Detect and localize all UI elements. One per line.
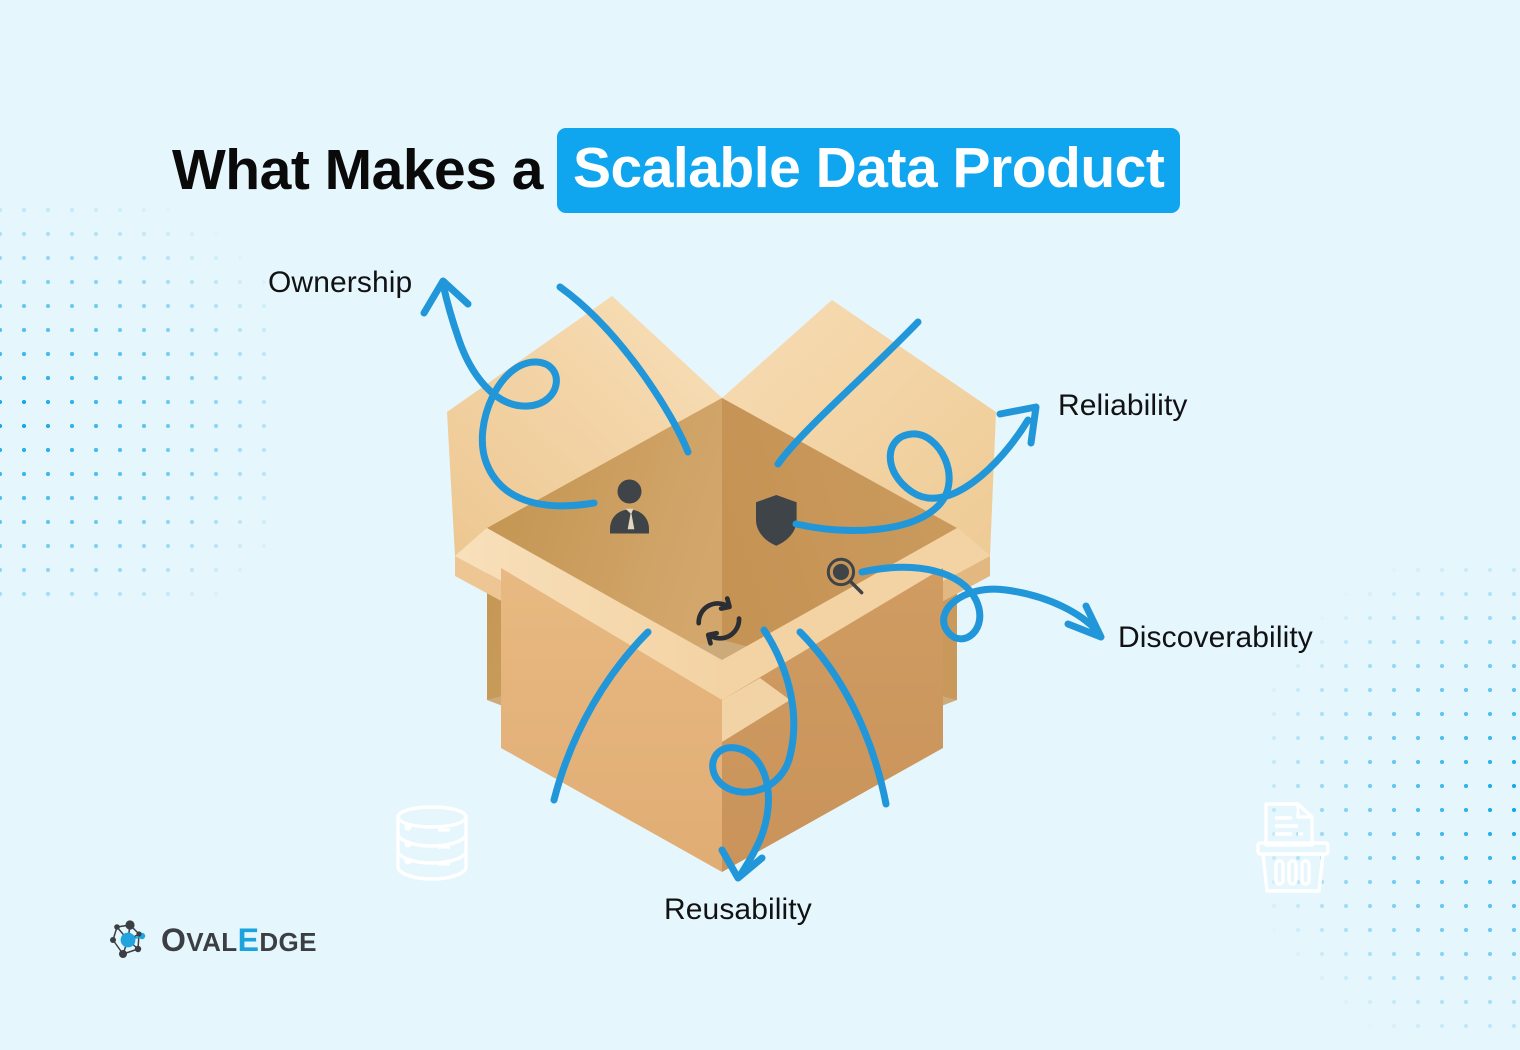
- callout-label-ownership: Ownership: [268, 266, 412, 300]
- callout-label-discoverability: Discoverability: [1118, 621, 1313, 655]
- logo-letters-dge: DGE: [259, 927, 317, 957]
- page-title: What Makes aScalable Data Product: [172, 128, 1180, 213]
- callout-label-reusability: Reusability: [664, 893, 812, 927]
- oval-edge-logo[interactable]: OVALEDGE: [104, 916, 317, 964]
- trash-document-icon: [1258, 804, 1328, 891]
- page-title-plain: What Makes a: [172, 142, 557, 199]
- logo-letter-o: O: [161, 922, 186, 958]
- infographic-canvas: What Makes aScalable Data Product Owners…: [0, 0, 1520, 1050]
- oval-edge-wordmark: OVALEDGE: [161, 924, 317, 956]
- page-title-highlight: Scalable Data Product: [557, 128, 1180, 213]
- database-icon: [398, 807, 466, 879]
- logo-letters-val: VAL: [186, 927, 237, 957]
- oval-edge-network-icon: [104, 916, 152, 964]
- logo-letter-e: E: [238, 922, 260, 958]
- callout-label-reliability: Reliability: [1058, 389, 1187, 423]
